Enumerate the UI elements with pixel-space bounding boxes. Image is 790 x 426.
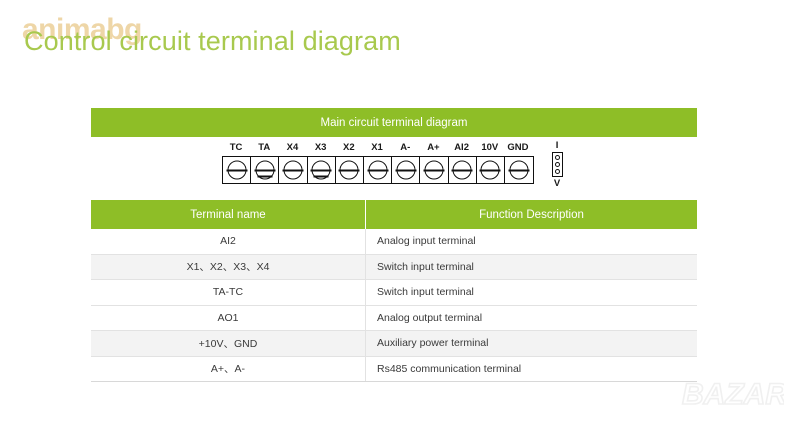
column-header-function-description: Function Description [366,200,698,229]
terminal-column-a-minus: A- [391,140,419,156]
column-header-terminal-name: Terminal name [91,200,366,229]
terminal-socket-ta[interactable] [251,157,279,183]
diagram-banner: Main circuit terminal diagram [91,108,697,137]
terminal-function-table: Terminal name Function Description AI2 A… [91,200,697,382]
terminal-label-row: TC TA X4 X3 X2 X1 A- A+ AI2 10V GND [222,140,534,156]
iv-jumper-selector[interactable]: I V [546,140,568,189]
screw-terminal-icon [227,161,246,180]
terminal-socket-10v[interactable] [477,157,505,183]
terminal-socket-a-minus[interactable] [392,157,420,183]
terminal-socket-x1[interactable] [364,157,392,183]
screw-terminal-icon [481,161,500,180]
terminal-socket-ai2[interactable] [449,157,477,183]
terminal-label: X1 [371,140,383,156]
slide-canvas: animabg Control circuit terminal diagram… [0,0,790,426]
jumper-pin-icon [555,169,560,174]
screw-terminal-icon [396,161,415,180]
table-row: X1、X2、X3、X4 Switch input terminal [91,254,697,280]
terminal-label: A- [400,140,410,156]
terminal-strip-inner: TC TA X4 X3 X2 X1 A- A+ AI2 10V GND [222,140,568,189]
table-row: AO1 Analog output terminal [91,305,697,331]
terminal-column-x4: X4 [278,140,306,156]
table-row: +10V、GND Auxiliary power terminal [91,331,697,357]
terminal-label: TC [230,140,243,156]
cell-terminal-name: A+、A- [91,356,366,382]
terminal-column-ta: TA [250,140,278,156]
terminal-socket-a-plus[interactable] [420,157,448,183]
cell-terminal-name: +10V、GND [91,331,366,357]
table-header-row: Terminal name Function Description [91,200,697,229]
terminal-label: GND [507,140,528,156]
screw-terminal-icon [283,161,302,180]
terminal-column-x1: X1 [363,140,391,156]
screw-terminal-icon [255,161,274,180]
cell-function-description: Analog input terminal [366,229,698,254]
screw-terminal-icon [340,161,359,180]
screw-terminal-icon [453,161,472,180]
cell-function-description: Switch input terminal [366,280,698,306]
cell-function-description: Switch input terminal [366,254,698,280]
terminal-columns: TC TA X4 X3 X2 X1 A- A+ AI2 10V GND [222,140,534,184]
terminal-column-10v: 10V [476,140,504,156]
jumper-current-label: I [556,140,559,151]
terminal-block [222,156,534,184]
terminal-label: X3 [315,140,327,156]
terminal-column-gnd: GND [504,140,532,156]
screw-terminal-icon [424,161,443,180]
terminal-column-a-plus: A+ [419,140,447,156]
terminal-column-tc: TC [222,140,250,156]
cell-function-description: Rs485 communication terminal [366,356,698,382]
table-row: AI2 Analog input terminal [91,229,697,254]
bazar-watermark-text: BAZAR [682,378,784,411]
page-title: Control circuit terminal diagram [24,26,401,57]
jumper-pin-icon [555,162,560,167]
terminal-socket-gnd[interactable] [505,157,533,183]
jumper-pin-icon [555,155,560,160]
screw-terminal-icon [509,161,528,180]
cell-function-description: Auxiliary power terminal [366,331,698,357]
cell-terminal-name: AI2 [91,229,366,254]
diagram-banner-label: Main circuit terminal diagram [321,117,468,129]
terminal-socket-x4[interactable] [279,157,307,183]
terminal-label: X4 [287,140,299,156]
table-row: A+、A- Rs485 communication terminal [91,356,697,382]
jumper-body[interactable] [552,152,563,177]
terminal-label: A+ [427,140,439,156]
jumper-voltage-label: V [554,178,560,189]
terminal-label: 10V [481,140,498,156]
terminal-label: TA [258,140,270,156]
terminal-column-ai2: AI2 [448,140,476,156]
table-header: Terminal name Function Description [91,200,697,229]
screw-terminal-icon [312,161,331,180]
bazar-watermark: BAZAR [680,372,784,414]
cell-terminal-name: AO1 [91,305,366,331]
terminal-label: AI2 [454,140,469,156]
terminal-strip-graphic: TC TA X4 X3 X2 X1 A- A+ AI2 10V GND [91,140,697,198]
terminal-socket-x2[interactable] [336,157,364,183]
table-row: TA-TC Switch input terminal [91,280,697,306]
terminal-socket-x3[interactable] [308,157,336,183]
table-body: AI2 Analog input terminal X1、X2、X3、X4 Sw… [91,229,697,382]
terminal-column-x2: X2 [335,140,363,156]
screw-terminal-icon [368,161,387,180]
cell-function-description: Analog output terminal [366,305,698,331]
terminal-label: X2 [343,140,355,156]
terminal-column-x3: X3 [307,140,335,156]
cell-terminal-name: X1、X2、X3、X4 [91,254,366,280]
terminal-socket-tc[interactable] [223,157,251,183]
cell-terminal-name: TA-TC [91,280,366,306]
